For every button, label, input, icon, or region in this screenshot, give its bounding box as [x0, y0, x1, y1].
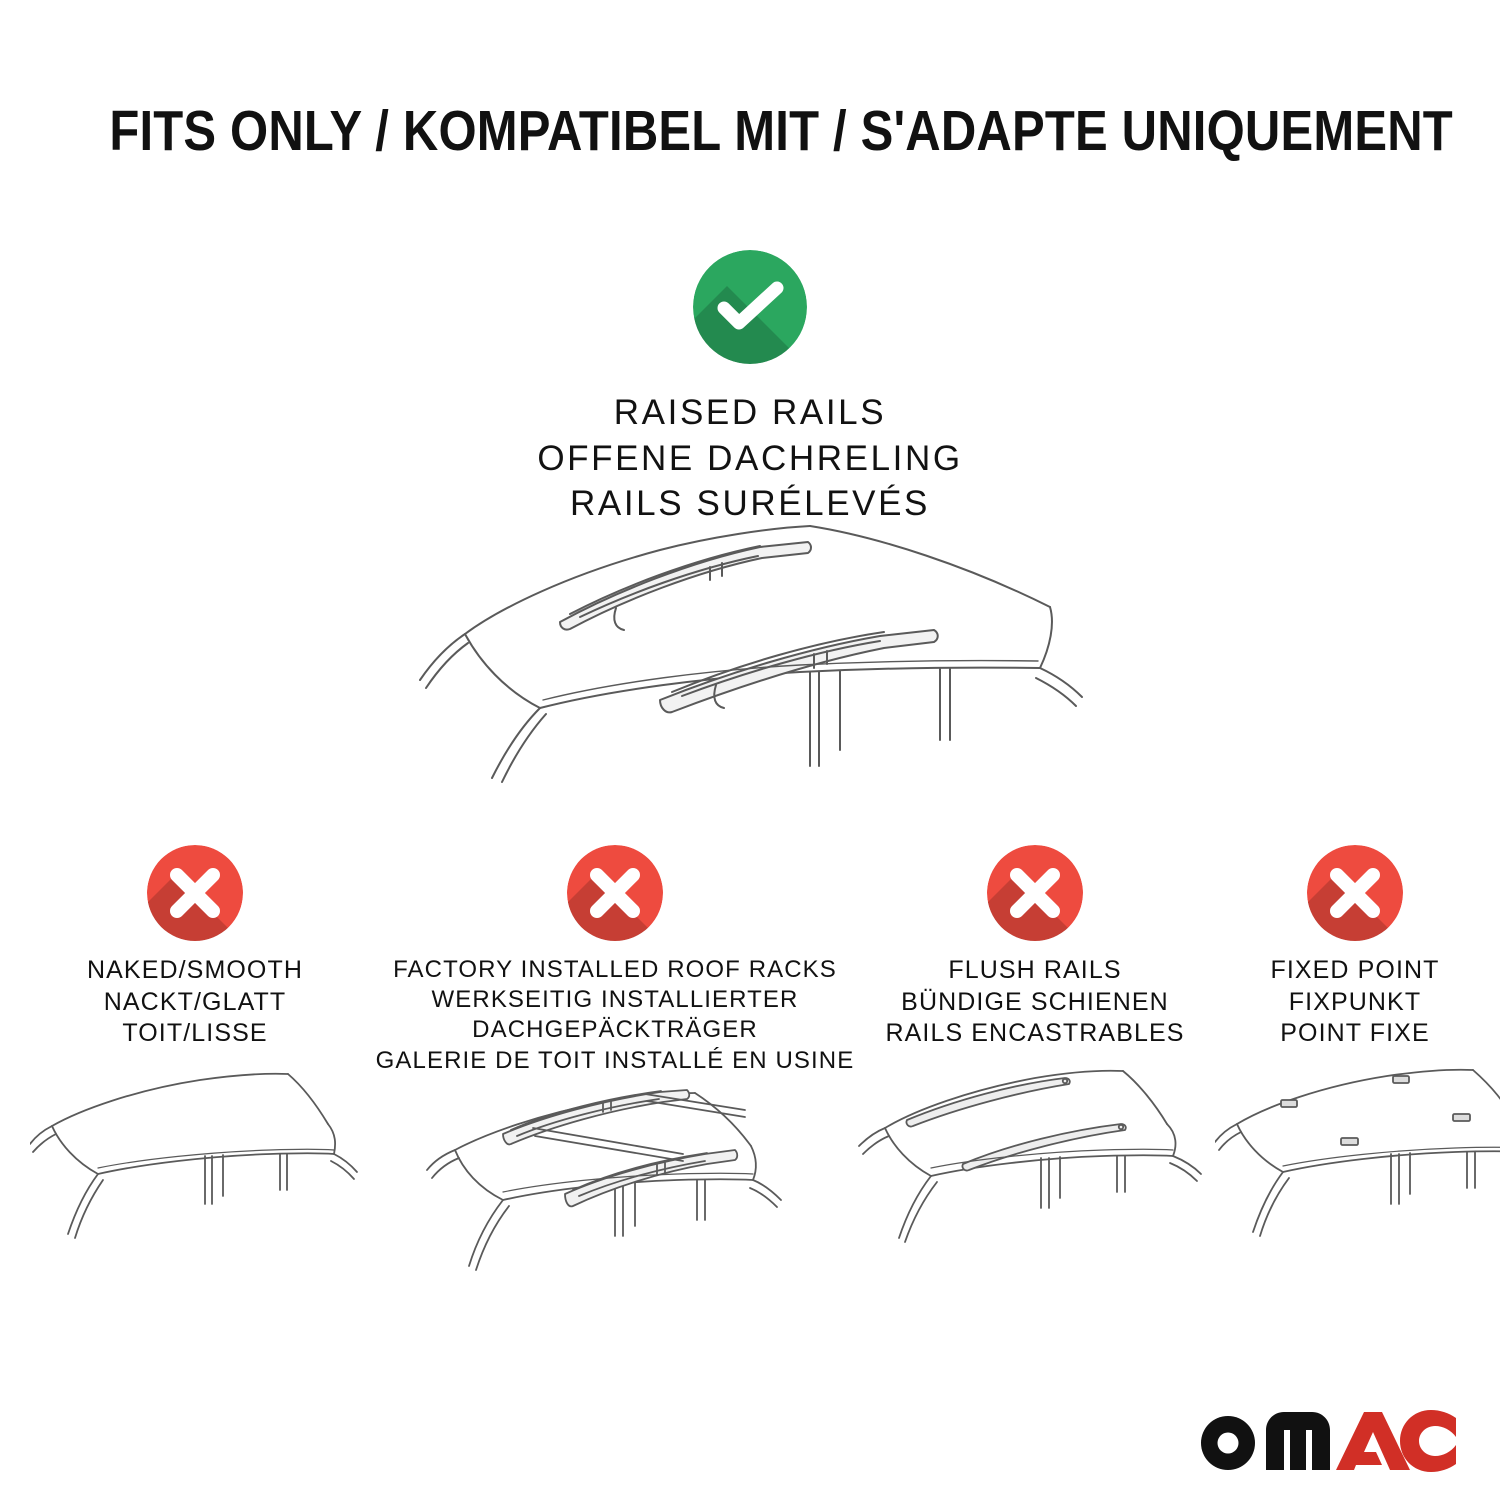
incompatible-item-naked-smooth: NAKED/SMOOTH NACKT/GLATT TOIT/LISSE [30, 845, 360, 1292]
logo-letter-o [1201, 1416, 1255, 1470]
label-line-3: RAILS ENCASTRABLES [855, 1018, 1215, 1050]
label-line-3: POINT FIXE [1215, 1018, 1495, 1050]
incompatible-section: NAKED/SMOOTH NACKT/GLATT TOIT/LISSE [0, 845, 1500, 1325]
incompatible-item-factory-roof-racks: FACTORY INSTALLED ROOF RACKS WERKSEITIG … [375, 845, 855, 1318]
label-line-3: DACHGEPÄCKTRÄGER [375, 1015, 855, 1045]
label-line-2: WERKSEITIG INSTALLIERTER [375, 985, 855, 1015]
omac-logo [1190, 1402, 1460, 1472]
fixed-point-roof-illustration [1215, 1062, 1495, 1292]
page-title: FITS ONLY / KOMPATIBEL MIT / S'ADAPTE UN… [0, 98, 1500, 164]
incompatible-item-flush-rails: FLUSH RAILS BÜNDIGE SCHIENEN RAILS ENCAS… [855, 845, 1215, 1292]
compatible-label-line-2: OFFENE DACHRELING [0, 436, 1500, 482]
compatible-label-line-1: RAISED RAILS [0, 390, 1500, 436]
x-circle-icon [147, 845, 243, 941]
label-line-4: GALERIE DE TOIT INSTALLÉ EN USINE [375, 1046, 855, 1076]
label-line-3: TOIT/LISSE [30, 1018, 360, 1050]
label-line-1: FACTORY INSTALLED ROOF RACKS [375, 955, 855, 985]
incompatible-label: FLUSH RAILS BÜNDIGE SCHIENEN RAILS ENCAS… [855, 955, 1215, 1050]
page-title-text: FITS ONLY / KOMPATIBEL MIT / S'ADAPTE UN… [109, 98, 1453, 164]
label-line-1: FIXED POINT [1215, 955, 1495, 987]
label-line-2: NACKT/GLATT [30, 987, 360, 1019]
naked-smooth-roof-illustration [30, 1062, 360, 1292]
incompatible-label: FIXED POINT FIXPUNKT POINT FIXE [1215, 955, 1495, 1050]
logo-letter-a [1336, 1412, 1410, 1470]
x-circle-icon [567, 845, 663, 941]
label-line-2: BÜNDIGE SCHIENEN [855, 987, 1215, 1019]
label-line-2: FIXPUNKT [1215, 987, 1495, 1019]
x-circle-icon [987, 845, 1083, 941]
check-circle-icon [693, 250, 807, 364]
incompatible-label: NAKED/SMOOTH NACKT/GLATT TOIT/LISSE [30, 955, 360, 1050]
compatibility-infographic: FITS ONLY / KOMPATIBEL MIT / S'ADAPTE UN… [0, 0, 1500, 1500]
label-line-1: FLUSH RAILS [855, 955, 1215, 987]
incompatible-item-fixed-point: FIXED POINT FIXPUNKT POINT FIXE [1215, 845, 1495, 1292]
logo-letter-m [1266, 1412, 1330, 1470]
x-circle-icon [1307, 845, 1403, 941]
flush-rails-illustration [855, 1062, 1215, 1292]
compatible-section: RAISED RAILS OFFENE DACHRELING RAILS SUR… [0, 250, 1500, 527]
incompatible-label: FACTORY INSTALLED ROOF RACKS WERKSEITIG … [375, 955, 855, 1076]
factory-roof-racks-illustration [375, 1088, 855, 1318]
label-line-1: NAKED/SMOOTH [30, 955, 360, 987]
compatible-labels: RAISED RAILS OFFENE DACHRELING RAILS SUR… [0, 390, 1500, 527]
raised-rails-illustration [410, 512, 1100, 812]
logo-letter-c [1400, 1410, 1456, 1472]
